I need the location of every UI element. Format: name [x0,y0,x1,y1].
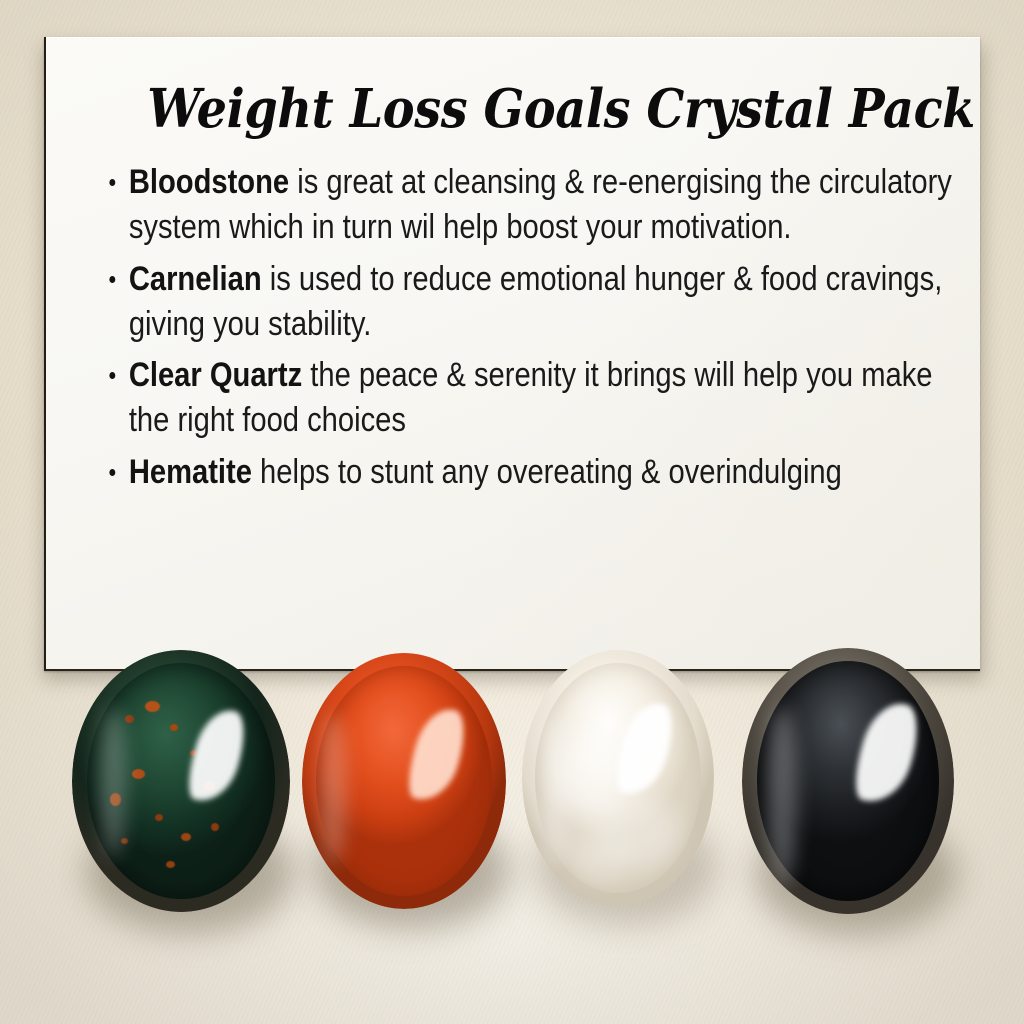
stone-body [742,648,954,914]
stone-body [522,650,714,906]
crystal-name-hematite: Hematite [129,453,252,491]
crystal-name-carnelian: Carnelian [129,260,262,298]
stone-bloodstone [72,650,290,912]
page-title: Weight Loss Goals Crystal Pack [147,83,890,136]
stone-carnelian [302,653,506,909]
info-card: Weight Loss Goals Crystal Pack Bloodston… [44,37,980,671]
list-item: Carnelian is used to reduce emotional hu… [106,257,952,347]
list-item: Hematite helps to stunt any overeating &… [106,450,952,495]
list-item: Bloodstone is great at cleansing & re-en… [106,160,952,250]
crystal-pack-image: Weight Loss Goals Crystal Pack Bloodston… [0,0,1024,1024]
stone-hematite [742,648,954,914]
list-item: Clear Quartz the peace & serenity it bri… [106,353,952,443]
stone-clear-quartz [522,650,714,906]
stone-body [72,650,290,912]
crystal-name-clear-quartz: Clear Quartz [129,356,302,394]
card-content: Weight Loss Goals Crystal Pack Bloodston… [46,37,980,669]
crystal-benefits-list: Bloodstone is great at cleansing & re-en… [106,160,932,495]
crystal-description-hematite: helps to stunt any overeating & overindu… [252,453,842,491]
crystal-name-bloodstone: Bloodstone [129,163,289,201]
stone-body [302,653,506,909]
